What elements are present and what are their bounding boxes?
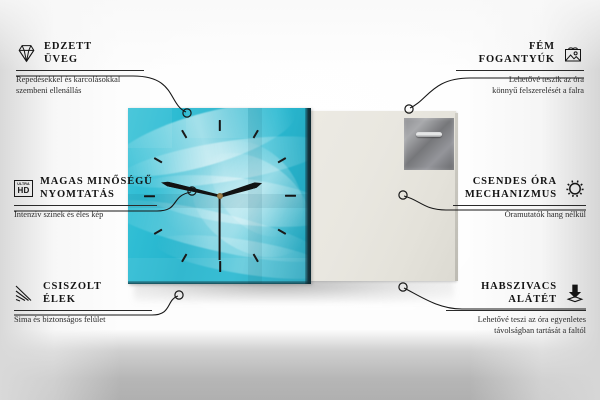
connector-dot-metal-handles [405, 105, 413, 113]
callout-quiet-mechanism-header: CSENDES ÓRA MECHANIZMUS [453, 176, 586, 202]
polished-edges-icon [14, 284, 36, 303]
callout-high-quality-print-rule [14, 205, 157, 206]
callout-high-quality-print-title: MAGAS MINŐSÉGŰ NYOMTATÁS [40, 176, 153, 202]
callout-polished-edges-rule [14, 310, 152, 311]
callout-metal-handles-header: FÉM FOGANTYÚK [456, 41, 584, 67]
callout-tempered-glass: EDZETT ÜVEG Repedésekkel és karcolásokka… [16, 41, 144, 96]
callout-tempered-glass-header: EDZETT ÜVEG [16, 41, 144, 67]
picture-hanger-icon [562, 44, 584, 63]
callout-polished-edges: CSISZOLT ÉLEK Sima és biztonságos felüle… [14, 281, 152, 325]
callout-foam-pad-title: HABSZIVACS ALÁTÉT [446, 281, 557, 307]
callout-high-quality-print-header: ultra HD MAGAS MINŐSÉGŰ NYOMTATÁS [14, 176, 157, 202]
callout-quiet-mechanism-rule [453, 205, 586, 206]
callout-metal-handles-rule [456, 70, 584, 71]
callout-tempered-glass-subtitle: Repedésekkel és karcolásokkal szembeni e… [16, 74, 144, 96]
callout-metal-handles-title: FÉM FOGANTYÚK [456, 41, 555, 67]
connector-dot-high-quality-print [188, 187, 196, 195]
callout-polished-edges-header: CSISZOLT ÉLEK [14, 281, 152, 307]
callout-tempered-glass-rule [16, 70, 144, 71]
callout-metal-handles: FÉM FOGANTYÚK Lehetővé teszik az óra kön… [456, 41, 584, 96]
connector-dot-tempered-glass [183, 109, 191, 117]
callout-high-quality-print: ultra HD MAGAS MINŐSÉGŰ NYOMTATÁS Intenz… [14, 176, 157, 220]
down-arrow-pad-icon [564, 283, 586, 304]
callout-tempered-glass-title: EDZETT ÜVEG [44, 41, 92, 67]
callout-polished-edges-title: CSISZOLT ÉLEK [43, 281, 102, 307]
ultra-hd-badge-large-text: HD [18, 187, 30, 195]
connector-dot-quiet-mechanism [399, 191, 407, 199]
callout-foam-pad-subtitle: Lehetővé teszi az óra egyenletes távolsá… [446, 314, 586, 336]
callout-foam-pad: HABSZIVACS ALÁTÉT Lehetővé teszi az óra … [446, 281, 586, 336]
connector-dot-foam-pad [399, 283, 407, 291]
callout-foam-pad-header: HABSZIVACS ALÁTÉT [446, 281, 586, 307]
callout-foam-pad-rule [446, 310, 586, 311]
gear-icon [564, 178, 586, 199]
infographic-canvas: AA 1.5V [0, 0, 600, 400]
diamond-icon [16, 44, 37, 63]
callout-quiet-mechanism: CSENDES ÓRA MECHANIZMUS Óramutatók hang … [453, 176, 586, 220]
callout-high-quality-print-subtitle: Intenzív színek és éles kép [14, 209, 157, 220]
callout-quiet-mechanism-title: CSENDES ÓRA MECHANIZMUS [453, 176, 557, 202]
callout-metal-handles-subtitle: Lehetővé teszik az óra könnyű felszerelé… [456, 74, 584, 96]
callout-polished-edges-subtitle: Sima és biztonságos felület [14, 314, 152, 325]
callout-quiet-mechanism-subtitle: Óramutatók hang nélkül [453, 209, 586, 220]
connector-dot-polished-edges [175, 291, 183, 299]
ultra-hd-badge-icon: ultra HD [14, 180, 33, 197]
